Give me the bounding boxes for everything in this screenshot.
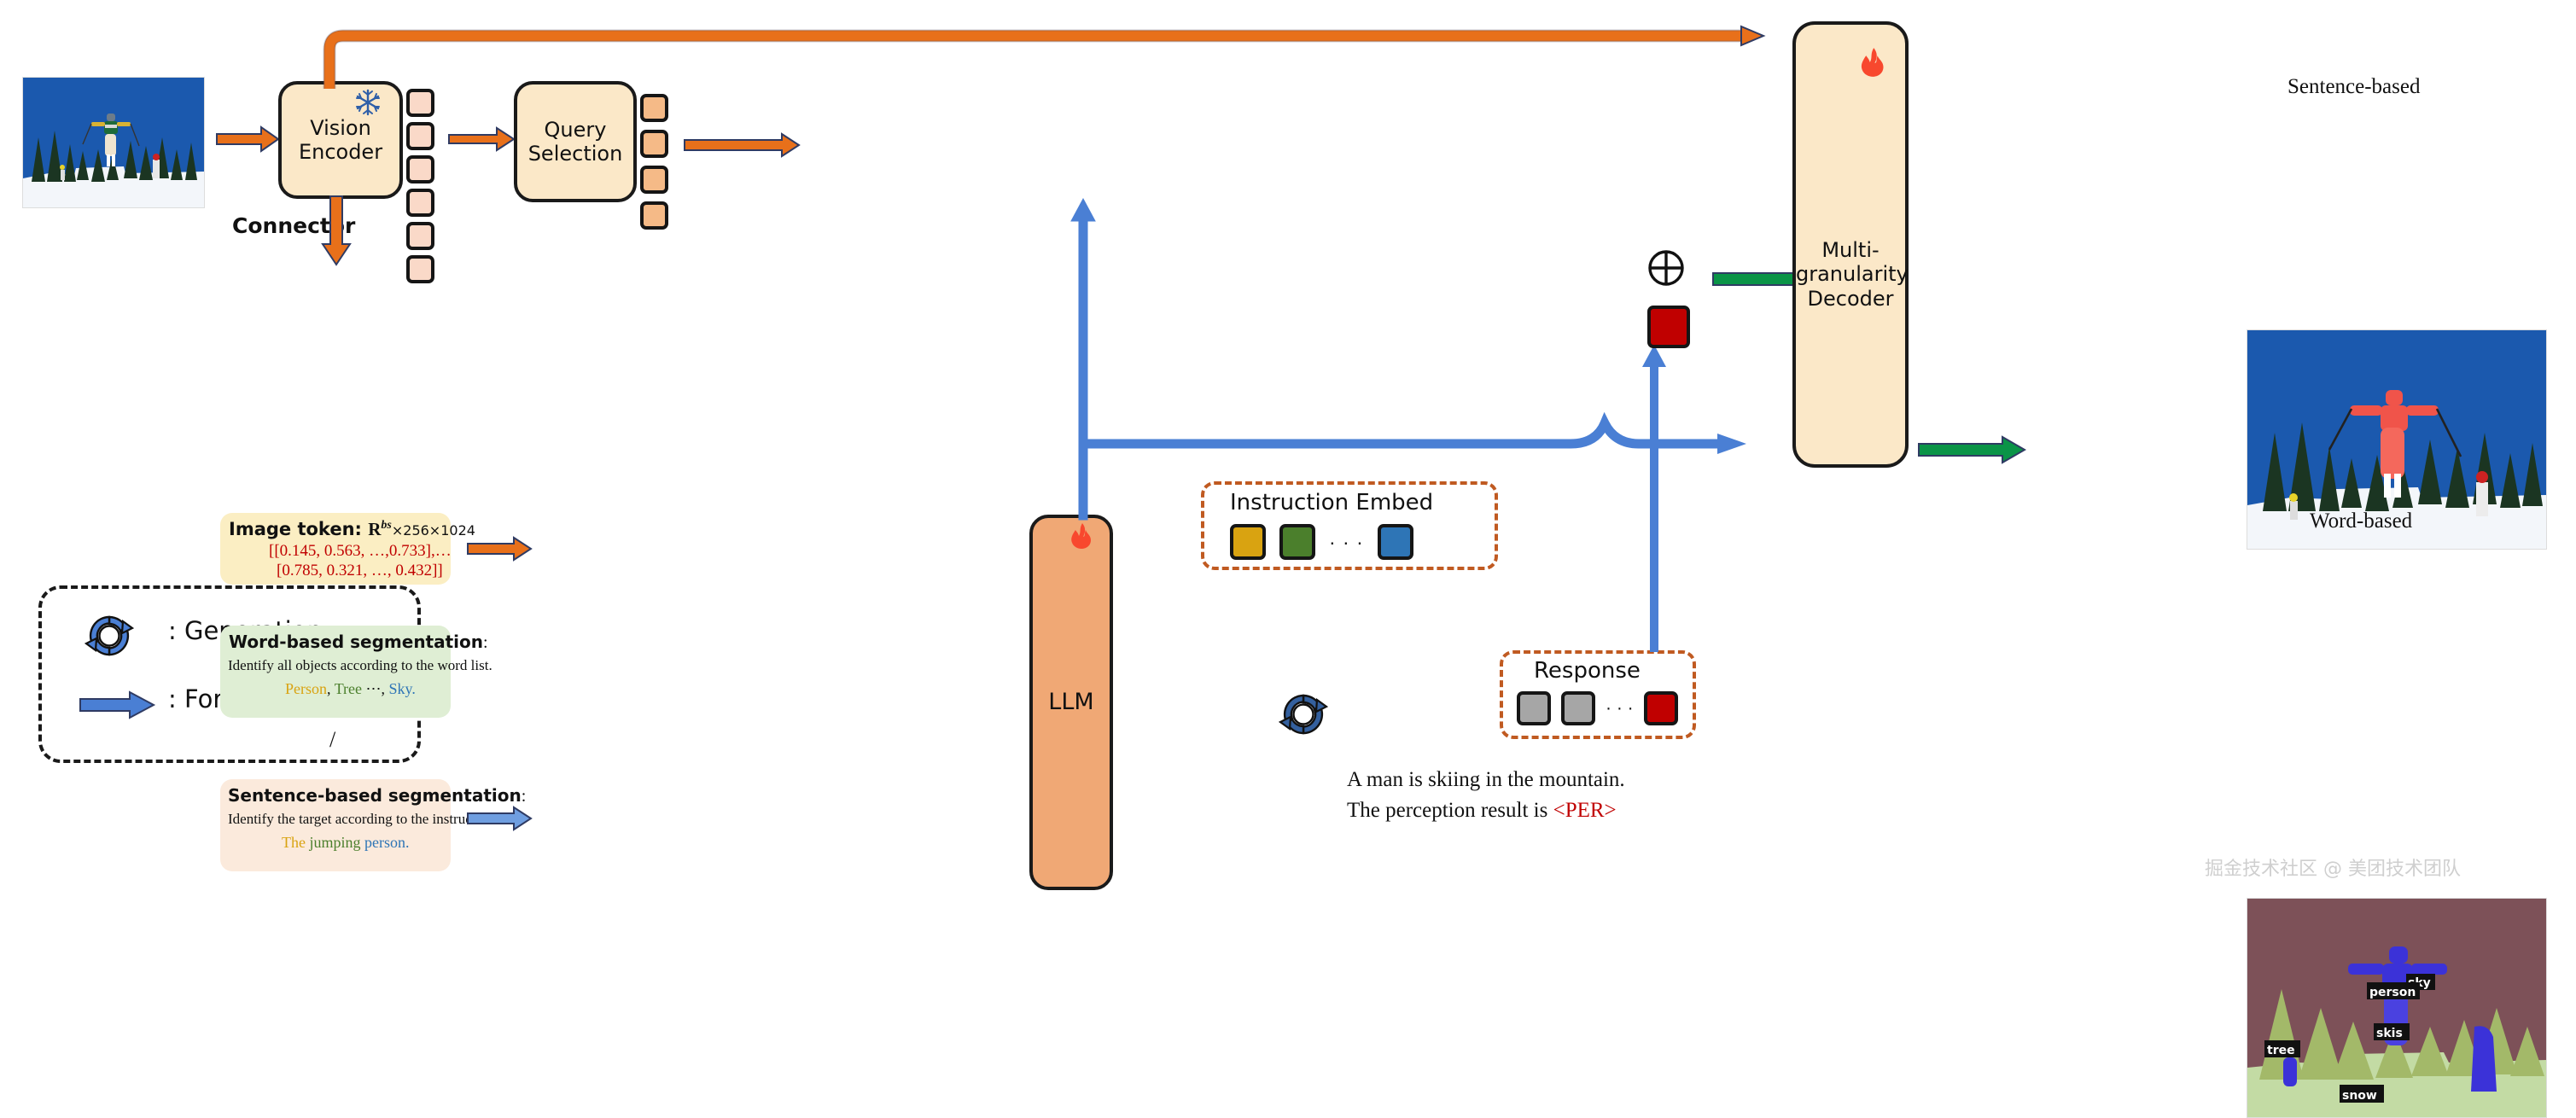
response-token-gray — [1561, 691, 1595, 725]
instruction-token-blue — [1378, 524, 1413, 560]
vision-encoder-label-line2: Encoder — [299, 140, 382, 164]
decoder-to-output-arrow — [1917, 435, 2028, 464]
fusion-red-token — [1647, 306, 1690, 348]
query-selection-label-line2: Selection — [528, 142, 623, 166]
word-list-item-person: Person — [285, 680, 327, 697]
word-based-word-list: Person, Tree ⋯, Sky. — [285, 680, 416, 698]
encoder-to-query-arrow — [447, 125, 517, 154]
instruction-embed-tokens: · · · — [1230, 524, 1413, 560]
svg-text:person: person — [2369, 986, 2416, 999]
output-sentence-based-label: Sentence-based — [2288, 75, 2420, 99]
image-token-title-prefix: Image token: — [229, 519, 368, 539]
instruction-token-green — [1279, 524, 1315, 560]
phrase-word-person: person — [364, 834, 405, 851]
response-panel: Response · · · — [1500, 650, 1696, 739]
vision-token — [406, 255, 434, 283]
image-token-superscript: bs — [381, 519, 391, 532]
query-selection-block[interactable]: Query Selection — [514, 81, 637, 202]
decoder-label-line3: Decoder — [1796, 287, 1905, 311]
instruction-embed-panel: Instruction Embed · · · — [1201, 481, 1498, 570]
word-based-title-colon: : — [483, 633, 488, 652]
image-token-row1: [[0.145, 0.563, …,0.733],… — [269, 542, 452, 561]
query-selection-label-line1: Query — [528, 118, 623, 142]
word-based-title-text: Word-based segmentation — [229, 632, 483, 652]
vision-token — [406, 155, 434, 183]
generation-loop-icon — [1277, 688, 1330, 741]
query-token — [640, 201, 668, 230]
query-token — [640, 166, 668, 194]
llm-block[interactable]: LLM — [1029, 515, 1113, 890]
sentence-based-instruction: Identify the target according to the ins… — [228, 811, 498, 828]
word-list-ellipsis: ⋯, — [362, 680, 389, 697]
sentence-based-phrase: The jumping person. — [282, 834, 410, 852]
svg-text:skis: skis — [2376, 1027, 2403, 1040]
vision-token — [406, 189, 434, 217]
word-list-item-sky: Sky — [389, 680, 412, 697]
word-based-title: Word-based segmentation: — [229, 632, 488, 653]
prompt-separator: / — [329, 727, 335, 753]
query-token — [640, 94, 668, 122]
prompt-to-llm-arrow — [466, 806, 534, 831]
image-token-dims: ×256×1024 — [392, 522, 475, 539]
query-token — [640, 130, 668, 158]
connector-arrow — [319, 195, 353, 268]
llm-label: LLM — [1048, 689, 1093, 716]
snowflake-icon — [353, 88, 382, 117]
image-token-title: Image token: Rbs×256×1024 — [229, 519, 475, 540]
top-feedback-arrow — [307, 19, 1775, 92]
image-token-symbol: R — [368, 519, 381, 539]
response-per-tag: <PER> — [1553, 799, 1617, 822]
phrase-period: . — [405, 834, 410, 851]
multi-granularity-decoder-block[interactable]: Multi- granularity Decoder — [1792, 21, 1909, 468]
decoder-label-line1: Multi- — [1796, 238, 1905, 262]
instruction-embed-title: Instruction Embed — [1230, 490, 1433, 515]
flame-icon — [1857, 47, 1886, 78]
phrase-word-the: The — [282, 834, 306, 851]
svg-text:tree: tree — [2267, 1044, 2295, 1057]
response-title: Response — [1534, 658, 1641, 684]
response-dots: · · · — [1606, 698, 1634, 719]
image-token-row2: [0.785, 0.321, …, 0.432]] — [277, 562, 443, 580]
instruction-embed-dots: · · · — [1329, 531, 1364, 554]
sentence-based-title: Sentence-based segmentation: — [228, 785, 526, 806]
instruction-token-yellow — [1230, 524, 1266, 560]
word-list-period: . — [411, 680, 416, 697]
word-list-sep-1: , — [327, 680, 335, 697]
query-to-fusion-arrow — [683, 132, 802, 158]
vision-token — [406, 89, 434, 117]
response-text-line2-prefix: The perception result is — [1347, 799, 1553, 822]
decoder-label-line2: granularity — [1796, 262, 1905, 286]
vision-token-column — [406, 89, 434, 283]
query-token-column — [640, 94, 668, 230]
vision-encoder-label-line1: Vision — [299, 116, 382, 140]
vision-token — [406, 222, 434, 250]
flame-icon — [1068, 522, 1093, 550]
input-to-encoder-arrow — [215, 125, 282, 154]
vision-token — [406, 122, 434, 150]
response-to-fusion-arrow — [1639, 341, 1670, 654]
forward-arrow-icon — [79, 690, 157, 720]
response-text-line2: The perception result is <PER> — [1347, 799, 1617, 823]
svg-text:snow: snow — [2342, 1089, 2377, 1103]
vision-encoder-block[interactable]: Vision Encoder — [278, 81, 403, 199]
fusion-plus-icon — [1646, 247, 1687, 288]
response-token-red — [1644, 691, 1678, 725]
response-text-line1: A man is skiing in the mountain. — [1347, 768, 1625, 792]
output-word-based-label: Word-based — [2310, 510, 2412, 533]
phrase-word-jumping: jumping — [309, 834, 360, 851]
sentence-based-title-text: Sentence-based segmentation — [228, 785, 522, 806]
response-token-gray — [1517, 691, 1551, 725]
response-tokens: · · · — [1517, 691, 1678, 725]
sentence-based-title-colon: : — [522, 787, 527, 806]
watermark: 掘金技术社区 @ 美团技术团队 — [2205, 853, 2461, 881]
image-token-to-llm-arrow — [466, 536, 534, 562]
output-word-based-image: sky person skis tree snow — [2247, 898, 2547, 1118]
input-image — [22, 77, 205, 208]
word-list-item-tree: Tree — [335, 680, 362, 697]
word-based-instruction: Identify all objects according to the wo… — [228, 657, 492, 674]
generation-loop-icon — [83, 609, 136, 662]
